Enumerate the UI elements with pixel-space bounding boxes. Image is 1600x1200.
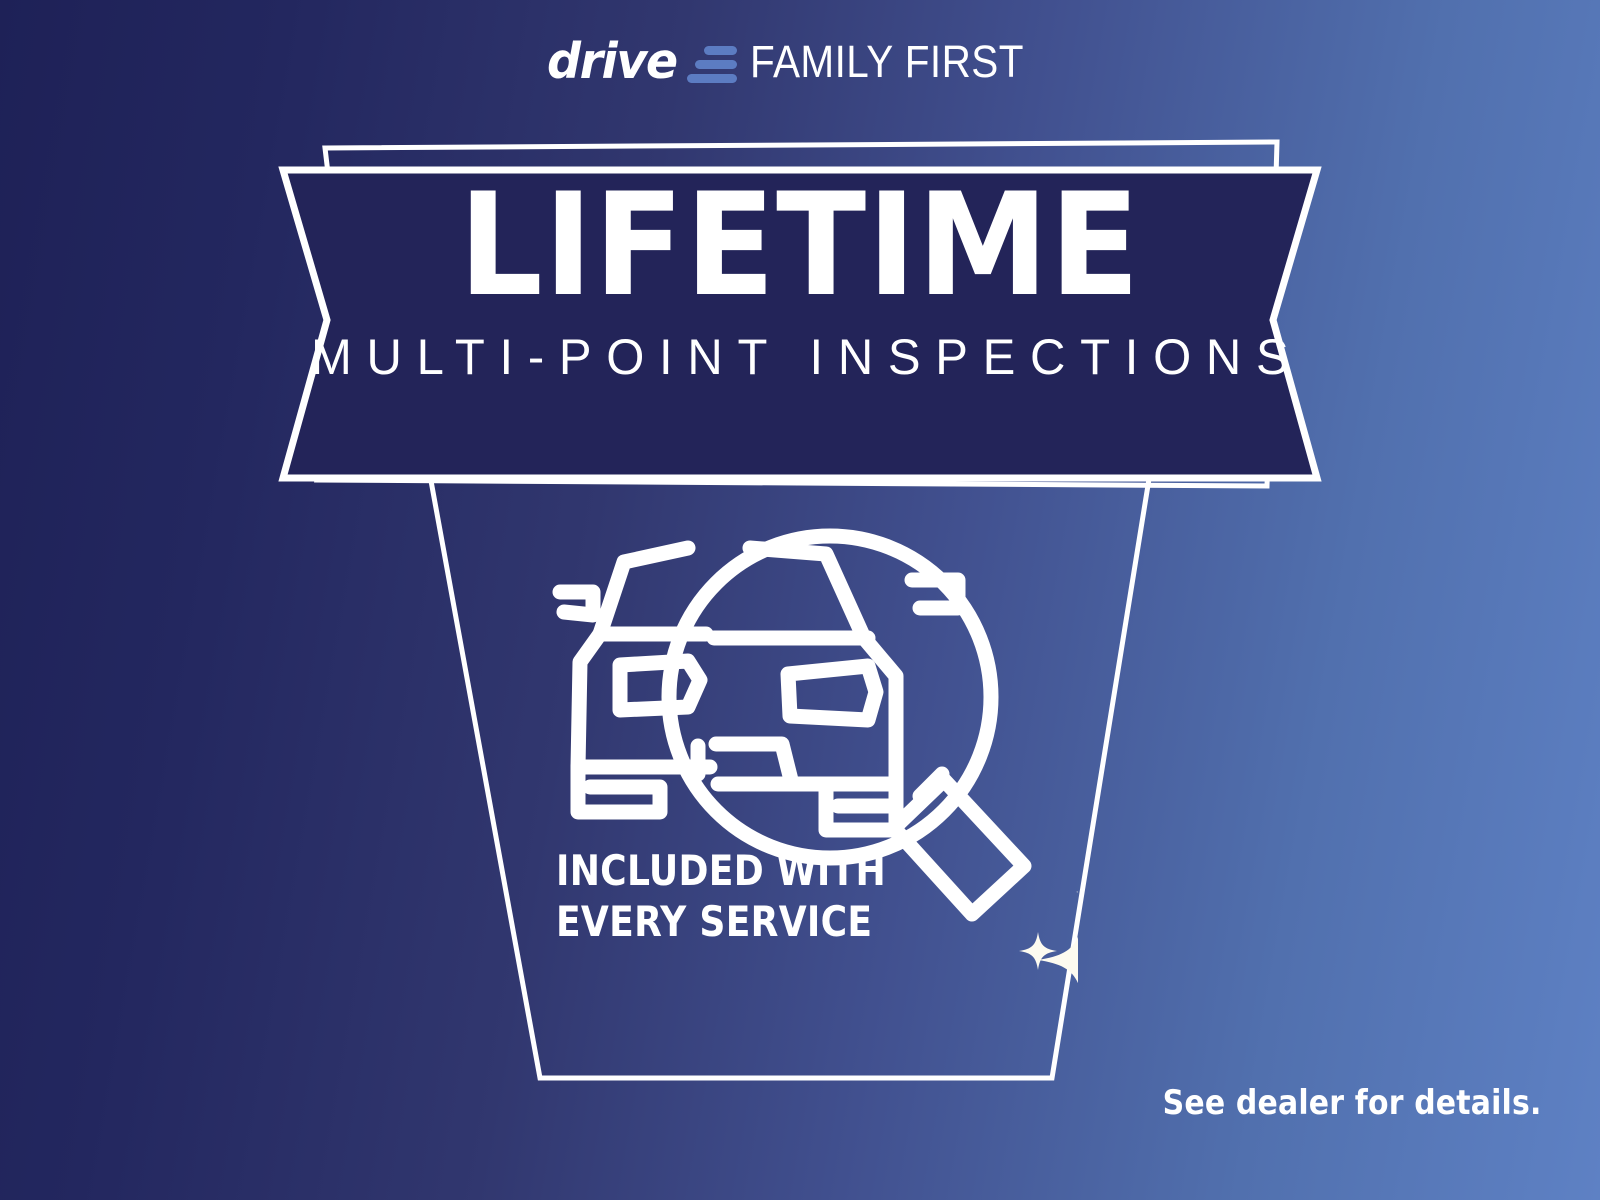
magnifier-handle	[894, 774, 1024, 914]
sparkle-medium	[1076, 866, 1078, 918]
promo-graphic: drive FAMILY FIRST LIFETIME MULTI-POINT …	[0, 0, 1600, 1200]
included-with-text: INCLUDED WITH EVERY SERVICE	[556, 845, 886, 947]
sparkle-group	[1019, 866, 1078, 1004]
brand-wordmark: drive	[547, 37, 677, 86]
banner-ribbon	[283, 170, 1317, 478]
dealer-footnote: See dealer for details.	[1163, 1086, 1542, 1120]
sparkle-small	[1019, 932, 1057, 970]
brand-tagline: FAMILY FIRST	[750, 39, 1024, 84]
included-line-2: EVERY SERVICE	[556, 896, 886, 947]
sparkle-large	[1038, 914, 1078, 1004]
brand-logo: drive FAMILY FIRST	[0, 28, 1600, 94]
stacked-bars-icon	[687, 46, 737, 83]
included-line-1: INCLUDED WITH	[556, 845, 886, 896]
lifetime-banner: LIFETIME MULTI-POINT INSPECTIONS	[255, 130, 1345, 505]
